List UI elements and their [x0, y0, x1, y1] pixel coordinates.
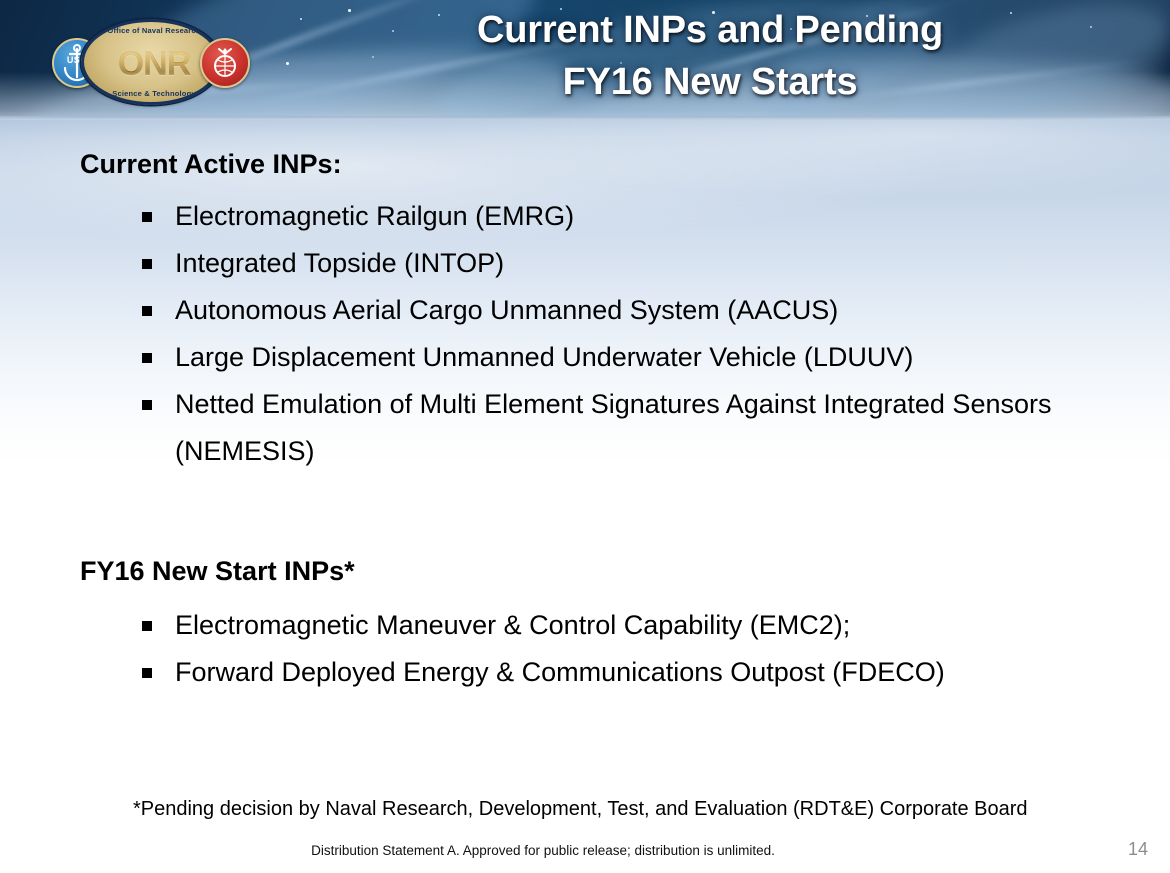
page-number: 14	[1128, 839, 1148, 860]
star-icon	[286, 62, 289, 65]
slide-title-line-2: FY16 New Starts	[300, 56, 1120, 108]
fy16-new-start-inps-list: Electromagnetic Maneuver & Control Capab…	[141, 602, 1131, 696]
onr-logo-bottom-text: Science & Technology	[84, 89, 221, 98]
square-bullet-icon	[142, 353, 152, 363]
distribution-statement: Distribution Statement A. Approved for p…	[0, 843, 1086, 858]
list-item-label: Netted Emulation of Multi Element Signat…	[175, 389, 1052, 466]
list-item: Large Displacement Unmanned Underwater V…	[141, 334, 1131, 381]
section-heading-current-active-inps: Current Active INPs:	[80, 149, 342, 180]
onr-logo: USN Office of Naval Research ONR Science…	[52, 19, 250, 105]
list-item: Electromagnetic Maneuver & Control Capab…	[141, 602, 1131, 649]
list-item-label: Integrated Topside (INTOP)	[175, 248, 504, 278]
list-item: Forward Deployed Energy & Communications…	[141, 649, 1131, 696]
square-bullet-icon	[142, 259, 152, 269]
slide-content: Current Active INPs: Electromagnetic Rai…	[0, 120, 1170, 873]
square-bullet-icon	[142, 668, 152, 678]
list-item-label: Electromagnetic Maneuver & Control Capab…	[175, 610, 850, 640]
slide-title-line-1: Current INPs and Pending	[300, 4, 1120, 56]
square-bullet-icon	[142, 306, 152, 316]
list-item-label: Autonomous Aerial Cargo Unmanned System …	[175, 295, 838, 325]
list-item-label: Forward Deployed Energy & Communications…	[175, 657, 945, 687]
section-heading-fy16-new-start-inps: FY16 New Start INPs*	[80, 556, 355, 587]
list-item: Autonomous Aerial Cargo Unmanned System …	[141, 287, 1131, 334]
slide-header-band: USN Office of Naval Research ONR Science…	[0, 0, 1170, 120]
slide: USN Office of Naval Research ONR Science…	[0, 0, 1170, 873]
onr-logo-top-text: Office of Naval Research	[84, 26, 221, 35]
list-item: Electromagnetic Railgun (EMRG)	[141, 193, 1131, 240]
current-active-inps-list: Electromagnetic Railgun (EMRG) Integrate…	[141, 193, 1131, 475]
slide-title: Current INPs and Pending FY16 New Starts	[300, 4, 1120, 108]
square-bullet-icon	[142, 212, 152, 222]
footnote: *Pending decision by Naval Research, Dev…	[133, 792, 1063, 826]
list-item-label: Electromagnetic Railgun (EMRG)	[175, 201, 574, 231]
usmc-seal-icon	[200, 38, 250, 88]
list-item: Integrated Topside (INTOP)	[141, 240, 1131, 287]
square-bullet-icon	[142, 400, 152, 410]
list-item-label: Large Displacement Unmanned Underwater V…	[175, 342, 913, 372]
list-item: Netted Emulation of Multi Element Signat…	[141, 381, 1131, 475]
square-bullet-icon	[142, 621, 152, 631]
